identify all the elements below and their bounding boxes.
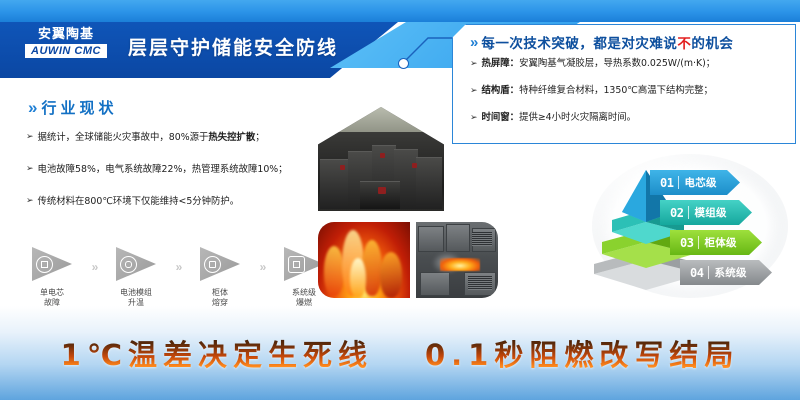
slogan-right-text: 0.1秒阻燃改写结局 xyxy=(425,332,739,374)
top-blue-strip xyxy=(0,0,800,22)
flow-stage-label: 柜体熔穿 xyxy=(212,288,228,308)
list-item-text: 安翼陶基气凝胶层，导热系数0.025W/(m·K)； xyxy=(519,58,715,69)
flow-stage: 电池模组升温 xyxy=(108,247,164,308)
list-item: ➢ 结构盾：特种纤维复合材料，1350℃高温下结构完整； xyxy=(470,85,790,97)
protection-level-pyramid: 01 电芯级 02 模组级 03 柜体级 04 系统级 xyxy=(588,152,800,302)
list-item: ➢ 热屏障：安翼陶基气凝胶层，导热系数0.025W/(m·K)； xyxy=(470,58,790,70)
play-rounded-icon xyxy=(116,247,156,281)
pyramid-level-text: 柜体级 xyxy=(704,235,736,250)
list-item-text: 特种纤维复合材料，1350℃高温下结构完整； xyxy=(519,85,713,96)
double-chevron-right-icon: » xyxy=(28,98,34,118)
left-section-list: ➢ 据统计，全球储能火灾事故中，80%源于热失控扩散； ➢ 电池故障58%，电气… xyxy=(26,131,336,227)
arrow-bullet-icon: ➢ xyxy=(470,112,478,124)
right-panel-title: » 每一次技术突破，都是对灾难说不的机会 xyxy=(470,32,733,52)
list-item: ➢ 据统计，全球储能火灾事故中，80%源于热失控扩散； xyxy=(26,131,336,144)
pyramid-level-number: 04 xyxy=(690,266,703,280)
pyramid-level-label: 01 电芯级 xyxy=(650,170,740,195)
infographic-poster: 安翼陶基 AUWIN CMC 层层守护储能安全防线 » 每一次技术突破，都是对灾… xyxy=(0,0,800,400)
bottom-slogan: 1℃温差决定生死线 0.1秒阻燃改写结局 xyxy=(0,330,800,376)
pyramid-level-number: 02 xyxy=(670,206,683,220)
flow-arrow-icon: » xyxy=(80,260,108,274)
pyramid-level-text: 系统级 xyxy=(714,265,746,280)
arrow-bullet-icon: ➢ xyxy=(26,163,34,175)
list-item-label: 时间窗： xyxy=(482,112,520,123)
list-item: ➢ 时间窗：提供≥4小时火灾隔离时间。 xyxy=(470,112,790,124)
play-square-icon xyxy=(32,247,72,281)
right-panel-title-part1: 每一次技术突破，都是对灾难说 xyxy=(481,36,677,52)
flow-stage: 柜体熔穿 xyxy=(192,247,248,308)
connector-dot-icon xyxy=(398,58,409,69)
list-item-text: 提供≥4小时火灾隔离时间。 xyxy=(519,112,636,123)
flow-stage-label: 电池模组升温 xyxy=(120,288,152,308)
pyramid-level-label: 02 模组级 xyxy=(660,200,752,225)
list-item-emphasis: 热失控扩散 xyxy=(208,132,255,143)
right-panel-list: ➢ 热屏障：安翼陶基气凝胶层，导热系数0.025W/(m·K)； ➢ 结构盾：特… xyxy=(470,58,790,139)
arrow-bullet-icon: ➢ xyxy=(470,58,478,70)
burnt-battery-containers-photo xyxy=(318,107,444,211)
pyramid-level-text: 电芯级 xyxy=(684,175,716,190)
flow-stage: 单电芯故障 xyxy=(24,247,80,308)
list-item: ➢ 传统材料在800℃环境下仅能维持<5分钟防护。 xyxy=(26,195,336,208)
arrow-bullet-icon: ➢ xyxy=(26,195,34,207)
arrow-bullet-icon: ➢ xyxy=(470,85,478,97)
double-chevron-right-icon: » xyxy=(470,34,475,51)
play-rect-icon xyxy=(200,247,240,281)
fire-flames-photo xyxy=(318,222,410,298)
pyramid-level-number: 03 xyxy=(680,236,693,250)
burning-electrical-cabinet-photo xyxy=(416,222,498,298)
list-item-text: 电池故障58%，电气系统故障22%，热管理系统故障10%； xyxy=(38,163,288,176)
logo-chinese-text: 安翼陶基 xyxy=(38,28,94,42)
list-item: ➢ 电池故障58%，电气系统故障22%，热管理系统故障10%； xyxy=(26,163,336,176)
slogan-left-text: 1℃温差决定生死线 xyxy=(61,332,373,374)
list-item-text: 据统计，全球储能火灾事故中，80%源于 xyxy=(38,132,209,143)
right-panel-title-part2: 的机会 xyxy=(691,36,733,52)
flow-arrow-icon: » xyxy=(164,260,192,274)
left-section-title-text: 行业现状 xyxy=(41,97,117,118)
pyramid-level-label: 04 系统级 xyxy=(680,260,772,285)
flow-stage-label: 系统级爆燃 xyxy=(292,288,316,308)
right-panel-title-text: 每一次技术突破，都是对灾难说不的机会 xyxy=(481,32,733,52)
list-item-text-suffix: ； xyxy=(255,132,264,143)
list-item-label: 热屏障： xyxy=(482,58,520,69)
logo-english-text: AUWIN CMC xyxy=(25,44,107,58)
list-item-text: 传统材料在800℃环境下仅能维持<5分钟防护。 xyxy=(38,195,240,208)
pyramid-level-text: 模组级 xyxy=(694,205,726,220)
page-title: 层层守护储能安全防线 xyxy=(128,33,338,60)
flow-arrow-icon: » xyxy=(248,260,276,274)
thermal-runaway-flow: 单电芯故障 » 电池模组升温 » 柜体熔穿 » xyxy=(24,247,314,307)
arrow-bullet-icon: ➢ xyxy=(26,131,34,143)
right-panel-title-highlight: 不 xyxy=(677,36,691,52)
pyramid-level-number: 01 xyxy=(660,176,673,190)
brand-logo: 安翼陶基 AUWIN CMC xyxy=(16,25,116,61)
pyramid-level-label: 03 柜体级 xyxy=(670,230,762,255)
left-section-title: » 行业现状 xyxy=(28,97,117,118)
flow-stage-label: 单电芯故障 xyxy=(40,288,64,308)
list-item-label: 结构盾： xyxy=(482,85,520,96)
